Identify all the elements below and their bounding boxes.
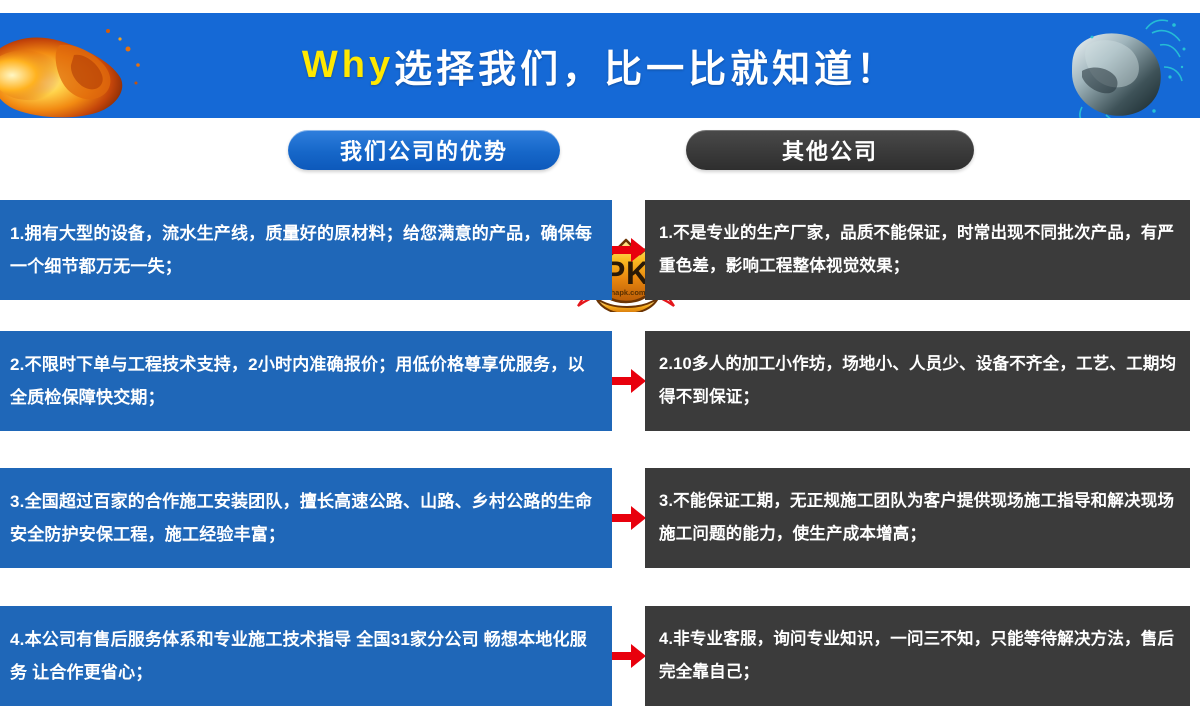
other-company-text: 1.不是专业的生产厂家，品质不能保证，时常出现不同批次产品，有严重色差，影响工程… <box>659 217 1178 283</box>
title-highlight: Why <box>302 44 394 87</box>
other-company-text: 2.10多人的加工小作坊，场地小、人员少、设备不齐全，工艺、工期均得不到保证； <box>659 348 1178 414</box>
advantage-panel: 1.拥有大型的设备，流水生产线，质量好的原材料；给您满意的产品，确保每一个细节都… <box>0 200 612 300</box>
tab-other-companies-label: 其他公司 <box>782 134 878 166</box>
title-rest: 选择我们，比一比就知道！ <box>394 38 898 93</box>
comparison-row: 2.不限时下单与工程技术支持，2小时内准确报价；用低价格尊享优服务，以全质检保障… <box>0 331 1200 431</box>
tab-our-advantages[interactable]: 我们公司的优势 <box>288 130 560 170</box>
right-arrow-icon <box>612 367 646 395</box>
right-arrow-icon <box>612 504 646 532</box>
advantage-text: 2.不限时下单与工程技术支持，2小时内准确报价；用低价格尊享优服务，以全质检保障… <box>10 348 598 414</box>
comparison-table: 1.拥有大型的设备，流水生产线，质量好的原材料；给您满意的产品，确保每一个细节都… <box>0 192 1200 724</box>
advantage-text: 4.本公司有售后服务体系和专业施工技术指导 全国31家分公司 畅想本地化服务 让… <box>10 623 598 689</box>
comparison-row: 1.拥有大型的设备，流水生产线，质量好的原材料；给您满意的产品，确保每一个细节都… <box>0 200 1200 300</box>
comparison-row: 4.本公司有售后服务体系和专业施工技术指导 全国31家分公司 畅想本地化服务 让… <box>0 606 1200 706</box>
other-company-text: 4.非专业客服，询问专业知识，一问三不知，只能等待解决方法，售后完全靠自己； <box>659 623 1178 689</box>
page-title: Why选择我们，比一比就知道！ <box>0 13 1200 118</box>
other-company-text: 3.不能保证工期，无正规施工团队为客户提供现场施工指导和解决现场施工问题的能力，… <box>659 485 1178 551</box>
advantage-text: 3.全国超过百家的合作施工安装团队，擅长高速公路、山路、乡村公路的生命安全防护安… <box>10 485 598 551</box>
right-arrow-icon <box>612 642 646 670</box>
other-company-panel: 4.非专业客服，询问专业知识，一问三不知，只能等待解决方法，售后完全靠自己； <box>645 606 1190 706</box>
advantage-text: 1.拥有大型的设备，流水生产线，质量好的原材料；给您满意的产品，确保每一个细节都… <box>10 217 598 283</box>
tab-row: 我们公司的优势 <box>0 122 1200 192</box>
advantage-panel: 2.不限时下单与工程技术支持，2小时内准确报价；用低价格尊享优服务，以全质检保障… <box>0 331 612 431</box>
advantage-panel: 4.本公司有售后服务体系和专业施工技术指导 全国31家分公司 畅想本地化服务 让… <box>0 606 612 706</box>
other-company-panel: 3.不能保证工期，无正规施工团队为客户提供现场施工指导和解决现场施工问题的能力，… <box>645 468 1190 568</box>
right-arrow-icon <box>612 236 646 264</box>
other-company-panel: 1.不是专业的生产厂家，品质不能保证，时常出现不同批次产品，有严重色差，影响工程… <box>645 200 1190 300</box>
tab-other-companies[interactable]: 其他公司 <box>686 130 974 170</box>
comparison-row: 3.全国超过百家的合作施工安装团队，擅长高速公路、山路、乡村公路的生命安全防护安… <box>0 468 1200 568</box>
header-banner: Why选择我们，比一比就知道！ <box>0 13 1200 118</box>
advantage-panel: 3.全国超过百家的合作施工安装团队，擅长高速公路、山路、乡村公路的生命安全防护安… <box>0 468 612 568</box>
other-company-panel: 2.10多人的加工小作坊，场地小、人员少、设备不齐全，工艺、工期均得不到保证； <box>645 331 1190 431</box>
tab-our-advantages-label: 我们公司的优势 <box>340 134 508 166</box>
